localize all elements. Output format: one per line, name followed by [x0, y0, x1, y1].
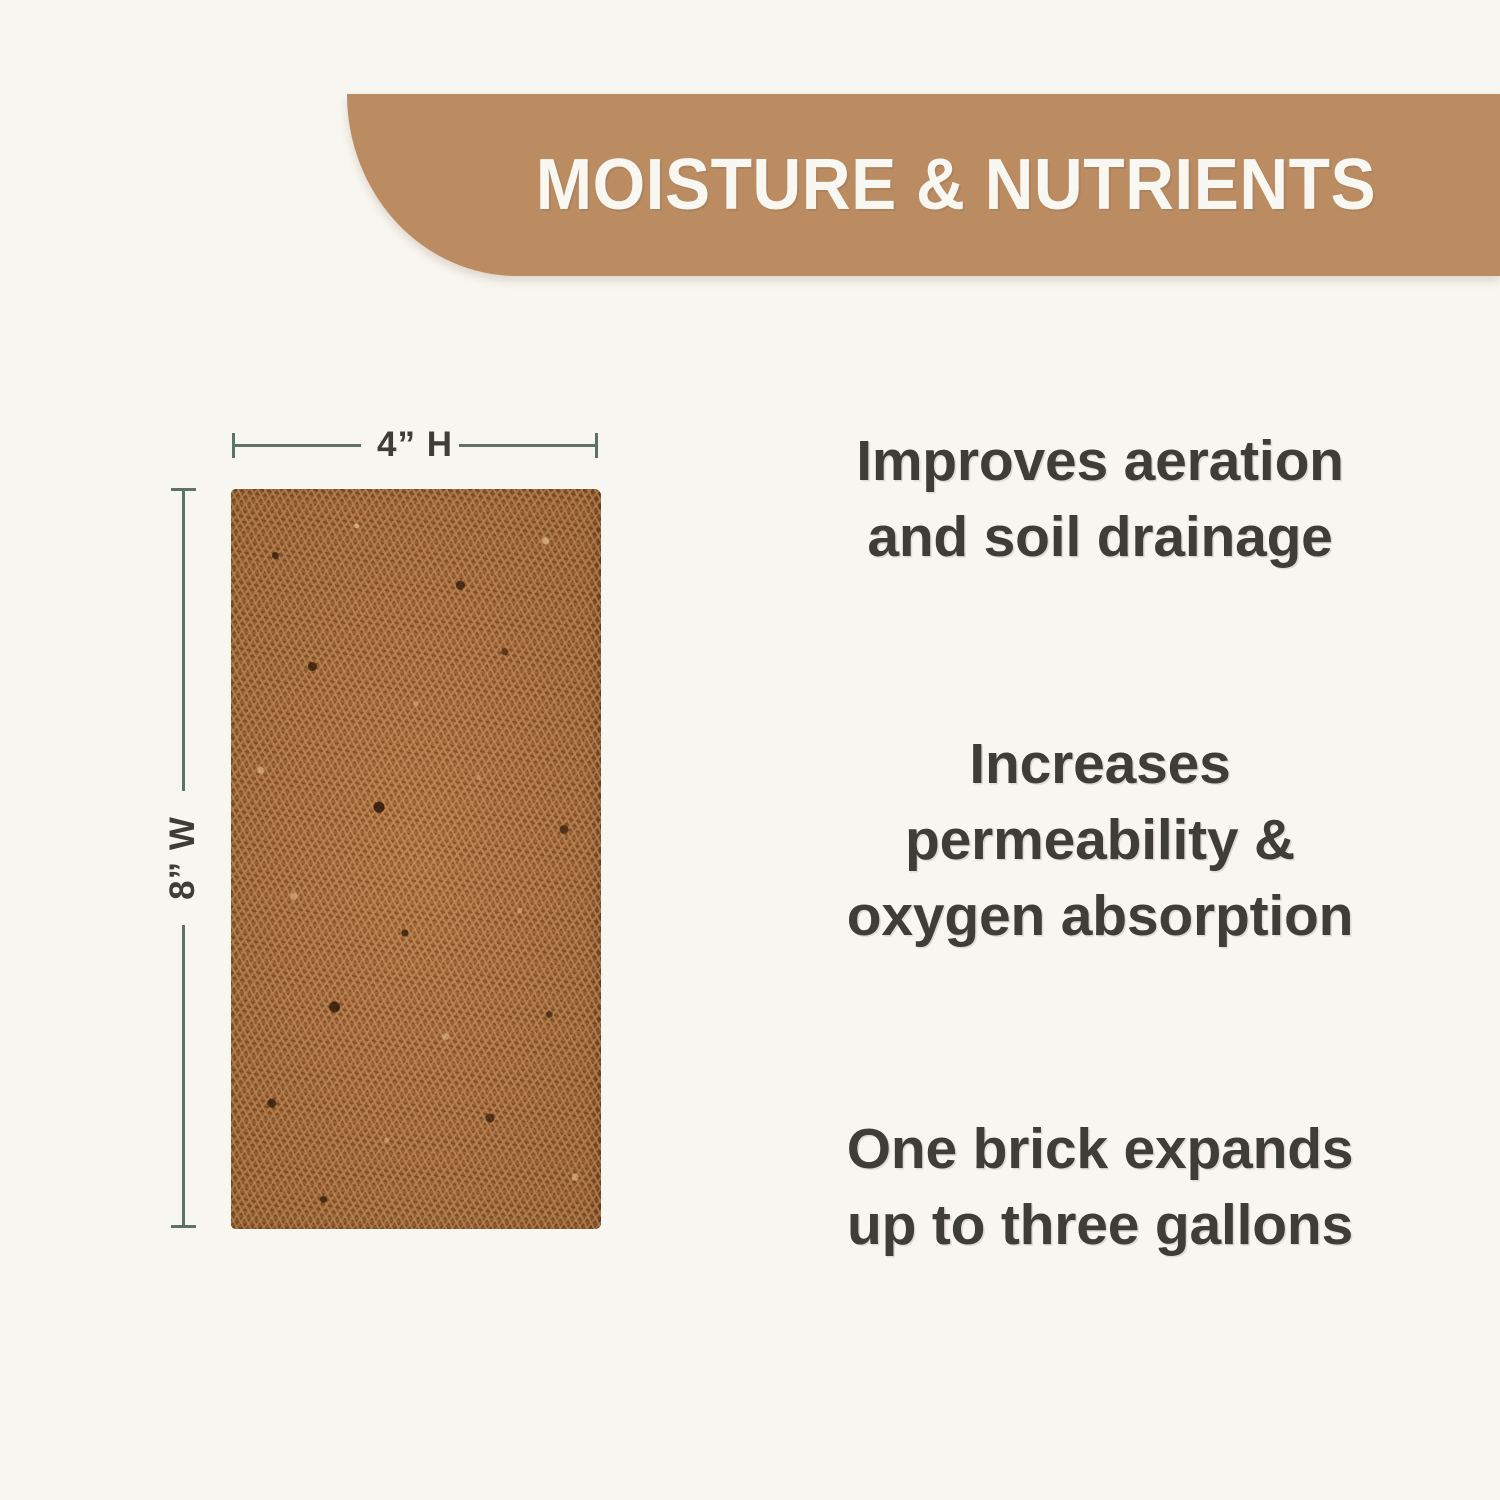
dimension-height: 8” W	[166, 488, 200, 1228]
benefits-column: Improves aeration and soil drainage Incr…	[700, 0, 1500, 1500]
benefit-line: Improves aeration	[756, 424, 1444, 500]
benefit-expansion-volume: One brick expands up to three gallons	[700, 1112, 1500, 1264]
benefit-line: permeability &	[756, 803, 1444, 879]
benefit-permeability-oxygen: Increases permeability & oxygen absorpti…	[700, 727, 1500, 954]
dimension-height-line-bottom	[182, 925, 185, 1225]
dimension-width: 4” H	[232, 428, 598, 462]
dimension-width-cap-right	[595, 433, 598, 458]
dimension-width-label: 4” H	[361, 425, 469, 465]
dimension-height-label: 8” W	[157, 798, 209, 918]
dimension-width-line-right	[459, 444, 595, 447]
benefit-line: and soil drainage	[756, 500, 1444, 576]
product-image-panel: 4” H 8” W	[0, 0, 700, 1500]
benefit-aeration-drainage: Improves aeration and soil drainage	[700, 424, 1500, 576]
dimension-height-line-top	[182, 491, 185, 791]
benefit-line: up to three gallons	[756, 1188, 1444, 1264]
benefit-line: One brick expands	[756, 1112, 1444, 1188]
benefit-line: Increases	[756, 727, 1444, 803]
coco-coir-brick-image	[231, 489, 601, 1229]
benefit-line: oxygen absorption	[756, 879, 1444, 955]
dimension-width-line-left	[235, 444, 379, 447]
dimension-height-cap-bottom	[171, 1225, 196, 1228]
